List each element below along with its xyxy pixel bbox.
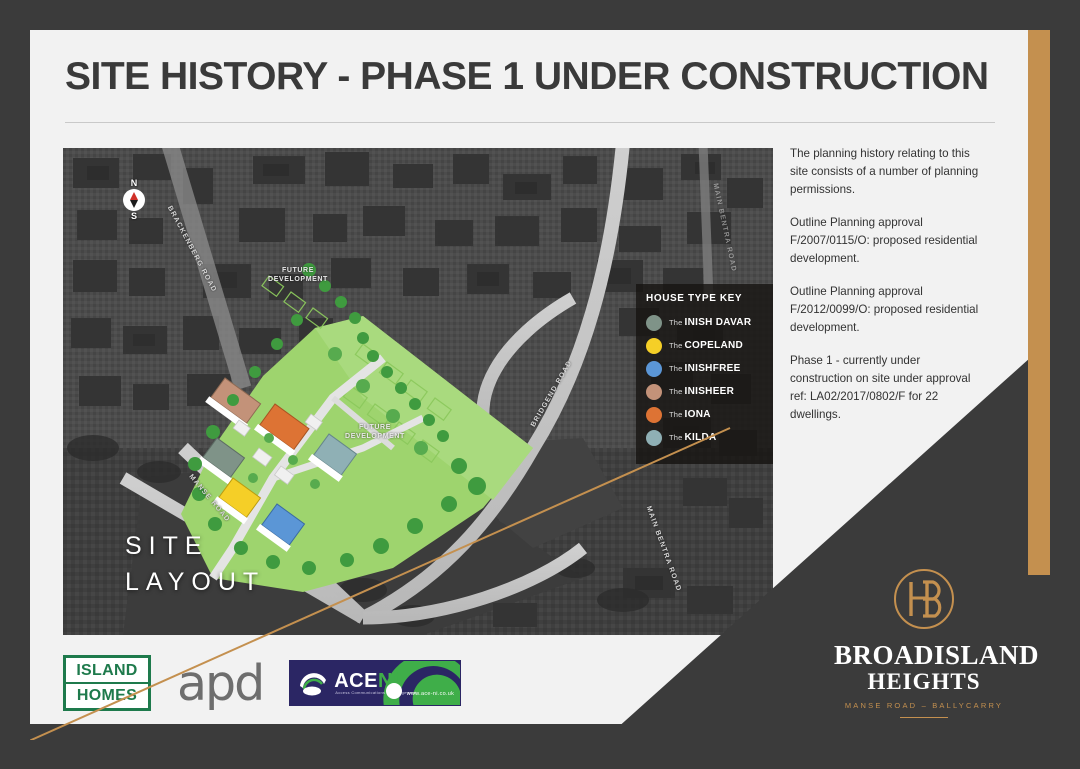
- compass-north-label: N: [119, 178, 149, 189]
- key-prefix: The: [669, 410, 683, 419]
- key-prefix: The: [669, 364, 683, 373]
- paragraph-intro: The planning history relating to this si…: [790, 145, 980, 199]
- key-item-copeland[interactable]: TheCOPELAND: [646, 334, 773, 357]
- key-prefix: The: [669, 318, 683, 327]
- page-title: SITE HISTORY - PHASE 1 UNDER CONSTRUCTIO…: [65, 55, 995, 99]
- slide-canvas: SITE HISTORY - PHASE 1 UNDER CONSTRUCTIO…: [0, 0, 1080, 769]
- broadisland-heights-logo: BROADISLAND HEIGHTS MANSE ROAD – BALLYCA…: [834, 568, 1014, 718]
- key-label-inisheer: INISHEER: [685, 386, 735, 397]
- planning-history-text: The planning history relating to this si…: [790, 145, 980, 439]
- key-label-kilda: KILDA: [685, 432, 717, 443]
- island-homes-divider: [66, 682, 148, 684]
- key-label-iona: IONA: [685, 409, 711, 420]
- title-divider: [65, 122, 995, 123]
- island-homes-line-2: HOMES: [77, 686, 137, 705]
- brand-divider: [900, 717, 948, 718]
- brand-line-1: BROADISLAND: [834, 641, 1014, 669]
- ace-ni-text-primary: ACE: [334, 670, 378, 692]
- key-label-inish-davar: INISH DAVAR: [685, 317, 752, 328]
- gold-accent-bar: [1028, 30, 1050, 575]
- island-homes-line-1: ISLAND: [76, 661, 137, 680]
- paragraph-approval-2007: Outline Planning approval F/2007/0115/O:…: [790, 214, 980, 268]
- key-prefix: The: [669, 387, 683, 396]
- apd-logo: apd: [177, 659, 263, 708]
- site-layout-map[interactable]: N S FUTURE DEVELOPMENT FUTURE DEVELOPMEN…: [63, 148, 773, 635]
- key-prefix: The: [669, 433, 683, 442]
- key-item-inisheer[interactable]: TheINISHEER: [646, 380, 773, 403]
- key-prefix: The: [669, 341, 683, 350]
- site-layout-caption: SITE LAYOUT: [125, 528, 265, 601]
- compass-south-label: S: [119, 211, 149, 222]
- key-item-inishfree[interactable]: TheINISHFREE: [646, 357, 773, 380]
- compass-rose: N S: [119, 178, 149, 230]
- island-homes-logo: ISLAND HOMES: [63, 655, 151, 711]
- site-layout-line-2: LAYOUT: [125, 564, 265, 600]
- key-swatch-inish-davar: [646, 315, 662, 331]
- key-label-inishfree: INISHFREE: [685, 363, 741, 374]
- ace-ni-subtitle: Access Communications & Engagement: [335, 690, 417, 695]
- ace-ni-mark-icon: [298, 670, 328, 696]
- site-layout-line-1: SITE: [125, 528, 265, 564]
- brand-line-2: HEIGHTS: [834, 669, 1014, 695]
- key-label-copeland: COPELAND: [685, 340, 744, 351]
- key-swatch-inishfree: [646, 361, 662, 377]
- key-swatch-iona: [646, 407, 662, 423]
- compass-dial: [123, 189, 145, 211]
- partner-logos: ISLAND HOMES apd: [63, 652, 461, 714]
- compass-needle-north: [130, 192, 138, 200]
- key-item-iona[interactable]: TheIONA: [646, 403, 773, 426]
- paragraph-approval-2012: Outline Planning approval F/2012/0099/O:…: [790, 283, 980, 337]
- ace-ni-url: www.ace-ni.co.uk: [407, 691, 455, 697]
- paragraph-phase-1: Phase 1 - currently under construction o…: [790, 352, 980, 424]
- compass-needle-south: [130, 200, 138, 208]
- ace-ni-logo: ACENi Access Communications & Engagement…: [289, 660, 461, 706]
- house-type-key-panel: HOUSE TYPE KEY TheINISH DAVAR TheCOPELAN…: [636, 284, 773, 464]
- key-item-inish-davar[interactable]: TheINISH DAVAR: [646, 311, 773, 334]
- content-card: SITE HISTORY - PHASE 1 UNDER CONSTRUCTIO…: [30, 30, 1050, 740]
- key-swatch-inisheer: [646, 384, 662, 400]
- brand-tagline: MANSE ROAD – BALLYCARRY: [834, 701, 1014, 710]
- bh-monogram-icon: [893, 568, 955, 630]
- key-swatch-copeland: [646, 338, 662, 354]
- key-swatch-kilda: [646, 430, 662, 446]
- key-item-kilda[interactable]: TheKILDA: [646, 426, 773, 449]
- house-type-key-title: HOUSE TYPE KEY: [646, 293, 773, 304]
